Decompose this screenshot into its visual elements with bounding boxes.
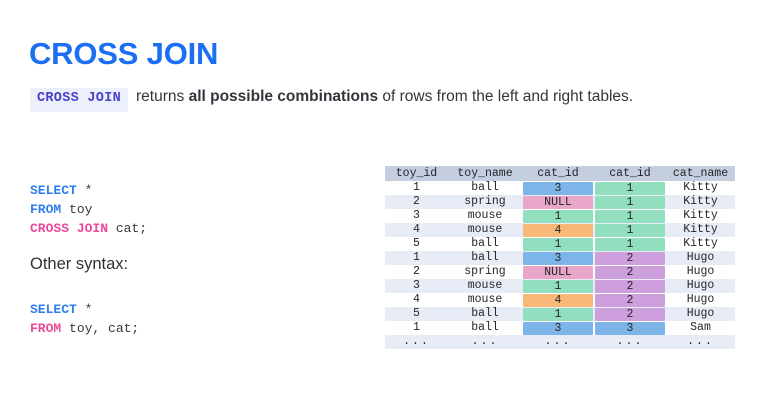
- cross-join-code-chip: CROSS JOIN: [30, 88, 128, 112]
- table-cell: spring: [448, 195, 522, 209]
- table-cell: 2: [594, 251, 666, 265]
- sql-token: toy: [61, 202, 92, 217]
- description-before: returns: [136, 88, 189, 105]
- table-cell: mouse: [448, 223, 522, 237]
- result-table-body: 1ball31Kitty2springNULL1Kitty3mouse11Kit…: [385, 181, 735, 349]
- sql-snippet-comma-join: SELECT *FROM toy, cat;: [30, 300, 139, 338]
- table-cell: mouse: [448, 279, 522, 293]
- table-row: 3mouse12Hugo: [385, 279, 735, 293]
- table-row: 1ball31Kitty: [385, 181, 735, 195]
- table-cell: 1: [522, 279, 594, 293]
- highlighted-value: 4: [523, 294, 593, 307]
- table-cell: Kitty: [666, 237, 735, 251]
- table-cell: 1: [594, 209, 666, 223]
- table-cell: 1: [385, 321, 448, 335]
- table-cell: 5: [385, 237, 448, 251]
- highlighted-value: NULL: [523, 266, 593, 279]
- table-header-row: toy_idtoy_namecat_idcat_idcat_name: [385, 166, 735, 181]
- sql-keyword: SELECT: [30, 183, 77, 198]
- table-cell: 3: [385, 279, 448, 293]
- table-row: 4mouse42Hugo: [385, 293, 735, 307]
- table-cell: ball: [448, 251, 522, 265]
- table-cell: 4: [385, 293, 448, 307]
- highlighted-value: 2: [595, 280, 665, 293]
- highlighted-value: 3: [595, 322, 665, 335]
- highlighted-value: 1: [523, 280, 593, 293]
- highlighted-value: 2: [595, 294, 665, 307]
- table-cell: 4: [522, 293, 594, 307]
- sql-keyword: FROM: [30, 202, 61, 217]
- table-row: 2springNULL1Kitty: [385, 195, 735, 209]
- table-cell: mouse: [448, 293, 522, 307]
- table-cell: 1: [594, 223, 666, 237]
- table-cell: 1: [522, 307, 594, 321]
- table-cell: 3: [594, 321, 666, 335]
- highlighted-value: NULL: [523, 196, 593, 209]
- table-cell: ...: [666, 335, 735, 349]
- table-cell: Sam: [666, 321, 735, 335]
- sql-line: SELECT *: [30, 300, 139, 319]
- table-header-cell: cat_id: [594, 166, 666, 181]
- sql-keyword: CROSS JOIN: [30, 221, 108, 236]
- sql-line: SELECT *: [30, 181, 147, 200]
- table-cell: NULL: [522, 265, 594, 279]
- table-cell: Hugo: [666, 265, 735, 279]
- table-cell: 3: [522, 321, 594, 335]
- page-title: CROSS JOIN: [29, 37, 218, 71]
- table-cell: 3: [522, 181, 594, 195]
- table-cell: ...: [594, 335, 666, 349]
- highlighted-value: 4: [523, 224, 593, 237]
- table-cell: ball: [448, 237, 522, 251]
- sql-token: toy, cat;: [61, 321, 139, 336]
- highlighted-value: 2: [595, 266, 665, 279]
- table-cell: Kitty: [666, 181, 735, 195]
- table-cell: 2: [385, 265, 448, 279]
- sql-token: *: [77, 183, 93, 198]
- highlighted-value: 1: [523, 210, 593, 223]
- table-cell: 1: [385, 181, 448, 195]
- highlighted-value: 2: [595, 308, 665, 321]
- table-cell: Hugo: [666, 307, 735, 321]
- sql-token: cat;: [108, 221, 147, 236]
- table-cell: 1: [522, 209, 594, 223]
- highlighted-value: 1: [595, 224, 665, 237]
- highlighted-value: 1: [595, 196, 665, 209]
- table-row: 5ball11Kitty: [385, 237, 735, 251]
- table-row: 1ball33Sam: [385, 321, 735, 335]
- table-ellipsis-row: ...............: [385, 335, 735, 349]
- table-cell: 1: [385, 251, 448, 265]
- highlighted-value: 1: [523, 238, 593, 251]
- highlighted-value: 1: [595, 238, 665, 251]
- table-cell: 5: [385, 307, 448, 321]
- table-cell: 2: [594, 279, 666, 293]
- highlighted-value: 3: [523, 252, 593, 265]
- table-cell: 4: [522, 223, 594, 237]
- table-cell: 2: [385, 195, 448, 209]
- highlighted-value: 1: [595, 182, 665, 195]
- result-table: toy_idtoy_namecat_idcat_idcat_name 1ball…: [385, 166, 735, 349]
- table-cell: 3: [385, 209, 448, 223]
- description-after: of rows from the left and right tables.: [378, 88, 633, 105]
- table-cell: ...: [448, 335, 522, 349]
- table-header-cell: cat_name: [666, 166, 735, 181]
- highlighted-value: 3: [523, 182, 593, 195]
- other-syntax-label: Other syntax:: [30, 255, 128, 274]
- table-cell: 4: [385, 223, 448, 237]
- description-bold: all possible combinations: [189, 88, 378, 105]
- table-cell: ...: [385, 335, 448, 349]
- table-cell: Hugo: [666, 251, 735, 265]
- sql-line: FROM toy, cat;: [30, 319, 139, 338]
- table-header-cell: cat_id: [522, 166, 594, 181]
- result-table-head: toy_idtoy_namecat_idcat_idcat_name: [385, 166, 735, 181]
- highlighted-value: 1: [595, 210, 665, 223]
- table-cell: ball: [448, 181, 522, 195]
- table-row: 4mouse41Kitty: [385, 223, 735, 237]
- sql-keyword: SELECT: [30, 302, 77, 317]
- table-row: 3mouse11Kitty: [385, 209, 735, 223]
- table-cell: Kitty: [666, 209, 735, 223]
- table-cell: Hugo: [666, 279, 735, 293]
- sql-line: CROSS JOIN cat;: [30, 219, 147, 238]
- table-header-cell: toy_id: [385, 166, 448, 181]
- table-cell: 1: [594, 181, 666, 195]
- sql-snippet-cross-join: SELECT *FROM toyCROSS JOIN cat;: [30, 181, 147, 238]
- highlighted-value: 2: [595, 252, 665, 265]
- description-line: CROSS JOIN returns all possible combinat…: [30, 88, 633, 112]
- table-cell: ball: [448, 321, 522, 335]
- table-cell: 2: [594, 307, 666, 321]
- highlighted-value: 3: [523, 322, 593, 335]
- description-text: returns all possible combinations of row…: [136, 88, 633, 106]
- table-cell: NULL: [522, 195, 594, 209]
- table-cell: 1: [522, 237, 594, 251]
- table-cell: Kitty: [666, 223, 735, 237]
- sql-keyword: FROM: [30, 321, 61, 336]
- table-cell: 1: [594, 195, 666, 209]
- table-cell: 2: [594, 293, 666, 307]
- highlighted-value: 1: [523, 308, 593, 321]
- table-cell: Kitty: [666, 195, 735, 209]
- table-cell: ball: [448, 307, 522, 321]
- table-cell: mouse: [448, 209, 522, 223]
- sql-line: FROM toy: [30, 200, 147, 219]
- table-cell: 1: [594, 237, 666, 251]
- table-cell: spring: [448, 265, 522, 279]
- table-cell: 3: [522, 251, 594, 265]
- table-row: 1ball32Hugo: [385, 251, 735, 265]
- table-cell: 2: [594, 265, 666, 279]
- table-row: 5ball12Hugo: [385, 307, 735, 321]
- sql-token: *: [77, 302, 93, 317]
- table-cell: Hugo: [666, 293, 735, 307]
- table-cell: ...: [522, 335, 594, 349]
- table-header-cell: toy_name: [448, 166, 522, 181]
- table-row: 2springNULL2Hugo: [385, 265, 735, 279]
